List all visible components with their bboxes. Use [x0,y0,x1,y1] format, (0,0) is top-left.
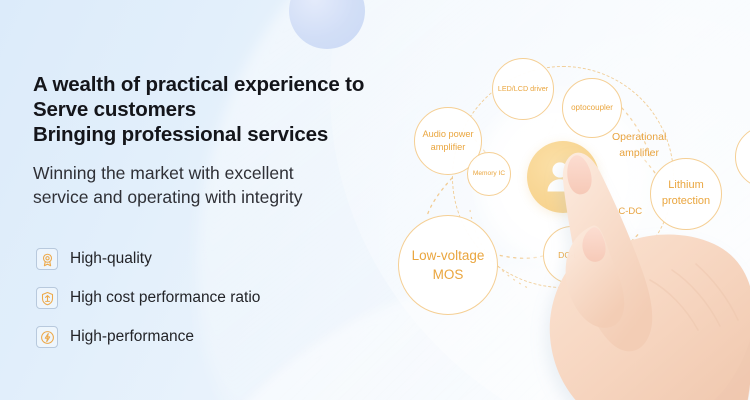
bubble-low-voltage-mos[interactable]: Low-voltage MOS [398,215,498,315]
bubble-label-line-1: Low-voltage [412,246,485,265]
bubble-led-lcd-driver[interactable]: LED/LCD driver [492,58,554,120]
bubble-optocoupler[interactable]: optocoupler [562,78,622,138]
bubble-label: LED/LCD driver [498,84,548,94]
bubble-label: optocoupler [571,102,613,113]
bubble-label-line-2: amplifier [422,141,473,154]
bubble-label-line-1: Audio power [422,128,473,141]
banner-stage: A wealth of practical experience to Serv… [0,0,750,400]
technology-bubble-network: LED/LCD driver optocoupler Audio power a… [0,0,750,400]
pointing-hand-illustration [500,140,750,400]
bubble-label-line-2: MOS [412,265,485,284]
